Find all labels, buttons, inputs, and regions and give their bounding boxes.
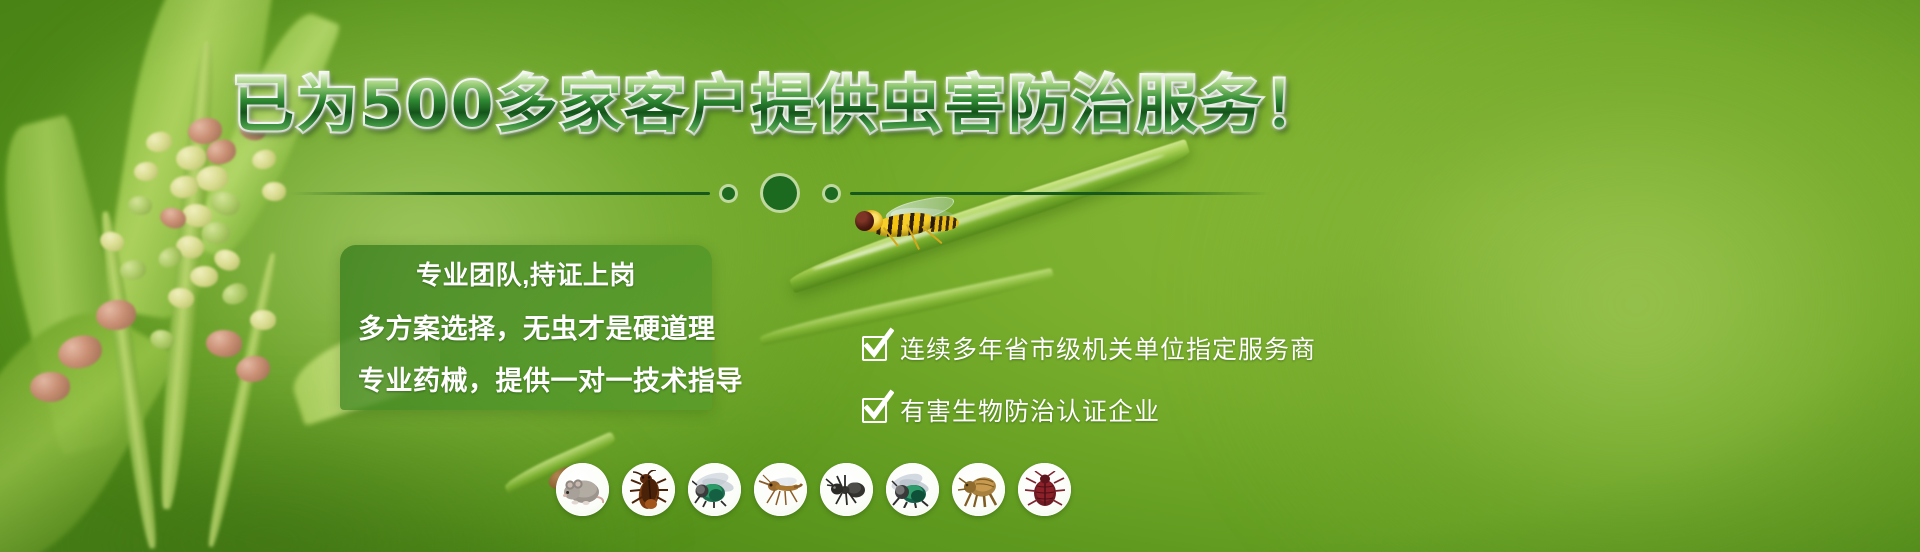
checklist-item-label: 有害生物防治认证企业 <box>900 392 1160 428</box>
flea-icon <box>952 463 1005 516</box>
pest-icon-row <box>556 463 1071 516</box>
small-dot-icon <box>722 187 735 200</box>
large-dot-icon <box>763 176 797 210</box>
ant-icon <box>820 463 873 516</box>
mouse-icon <box>556 463 609 516</box>
credentials-checklist: 连续多年省市级机关单位指定服务商 有害生物防治认证企业 <box>862 330 1316 428</box>
panel-line-2: 多方案选择，无虫才是硬道理 <box>358 307 694 346</box>
checkbox-check-icon <box>862 336 887 361</box>
decorative-divider <box>0 176 1560 210</box>
banner-headline: 已为500多家客户提供虫害防治服务！ <box>232 74 1327 136</box>
headline-container: 已为500多家客户提供虫害防治服务！ 已为500多家客户提供虫害防治服务！ <box>0 74 1560 136</box>
small-dot-icon <box>825 187 838 200</box>
housefly-icon <box>886 463 939 516</box>
checklist-item-label: 连续多年省市级机关单位指定服务商 <box>900 330 1316 366</box>
blowfly-icon <box>688 463 741 516</box>
bedbug-icon <box>1018 463 1071 516</box>
checklist-item: 连续多年省市级机关单位指定服务商 <box>862 330 1316 366</box>
pest-control-hero-banner: 已为500多家客户提供虫害防治服务！ 已为500多家客户提供虫害防治服务！ 专业… <box>0 0 1920 552</box>
divider-rule-right <box>850 192 1270 195</box>
panel-line-1: 专业团队,持证上岗 <box>358 255 694 292</box>
divider-rule-left <box>290 192 710 195</box>
checklist-item: 有害生物防治认证企业 <box>862 392 1316 428</box>
checkbox-check-icon <box>862 398 887 423</box>
mosquito-icon <box>754 463 807 516</box>
selling-points-panel: 专业团队,持证上岗 多方案选择，无虫才是硬道理 专业药械，提供一对一技术指导 <box>340 245 712 410</box>
panel-line-3: 专业药械，提供一对一技术指导 <box>358 359 694 398</box>
cockroach-icon <box>622 463 675 516</box>
